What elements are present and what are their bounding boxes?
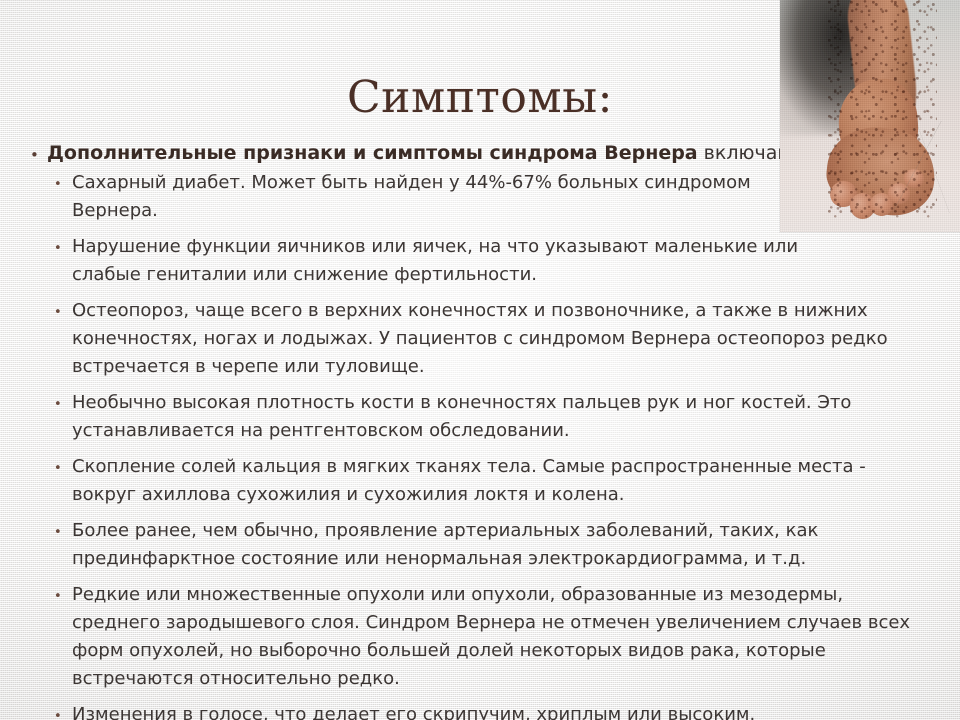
bullet-item-calcium-deposits: • Скопление солей кальция в мягких тканя… [54,453,930,509]
bullet-marker-icon: • [54,389,72,411]
bullet-marker-icon: • [54,453,72,475]
bullet-text: Сахарный диабет. Может быть найден у 44%… [72,169,842,225]
bullet-text-bold: Дополнительные признаки и симптомы синдр… [47,142,698,164]
bullet-item-bone-density: • Необычно высокая плотность кости в кон… [54,389,930,445]
photo-content [780,0,960,232]
photo-grain-overlay [780,0,960,232]
bullet-marker-icon: • [54,517,72,539]
bullet-item-osteoporosis: • Остеопороз, чаще всего в верхних конеч… [54,297,930,381]
bullet-marker-icon: • [54,581,72,603]
bullet-text: Необычно высокая плотность кости в конеч… [72,389,927,445]
bullet-text: Редкие или множественные опухоли или опу… [72,581,927,693]
bullet-item-gonadal-dysfunction: • Нарушение функции яичников или яичек, … [54,233,930,289]
bullet-text: Скопление солей кальция в мягких тканях … [72,453,927,509]
bullet-marker-icon: • [30,140,47,163]
bullet-text: Изменения в голосе, что делает его скрип… [72,701,927,720]
bullet-marker-icon: • [54,701,72,720]
bullet-marker-icon: • [54,297,72,319]
bullet-item-arterial-disease: • Более ранее, чем обычно, проявление ар… [54,517,930,573]
presentation-slide: Симптомы: • Дополнительные признаки и си… [0,0,960,720]
bullet-text: Более ранее, чем обычно, проявление арте… [72,517,927,573]
bullet-item-tumors: • Редкие или множественные опухоли или о… [54,581,930,693]
bullet-marker-icon: • [54,169,72,191]
bullet-item-voice-changes: • Изменения в голосе, что делает его скр… [54,701,930,720]
bullet-text: Нарушение функции яичников или яичек, на… [72,233,842,289]
bullet-marker-icon: • [54,233,72,255]
bullet-text: Остеопороз, чаще всего в верхних конечно… [72,297,927,381]
clinical-photo [780,0,960,232]
